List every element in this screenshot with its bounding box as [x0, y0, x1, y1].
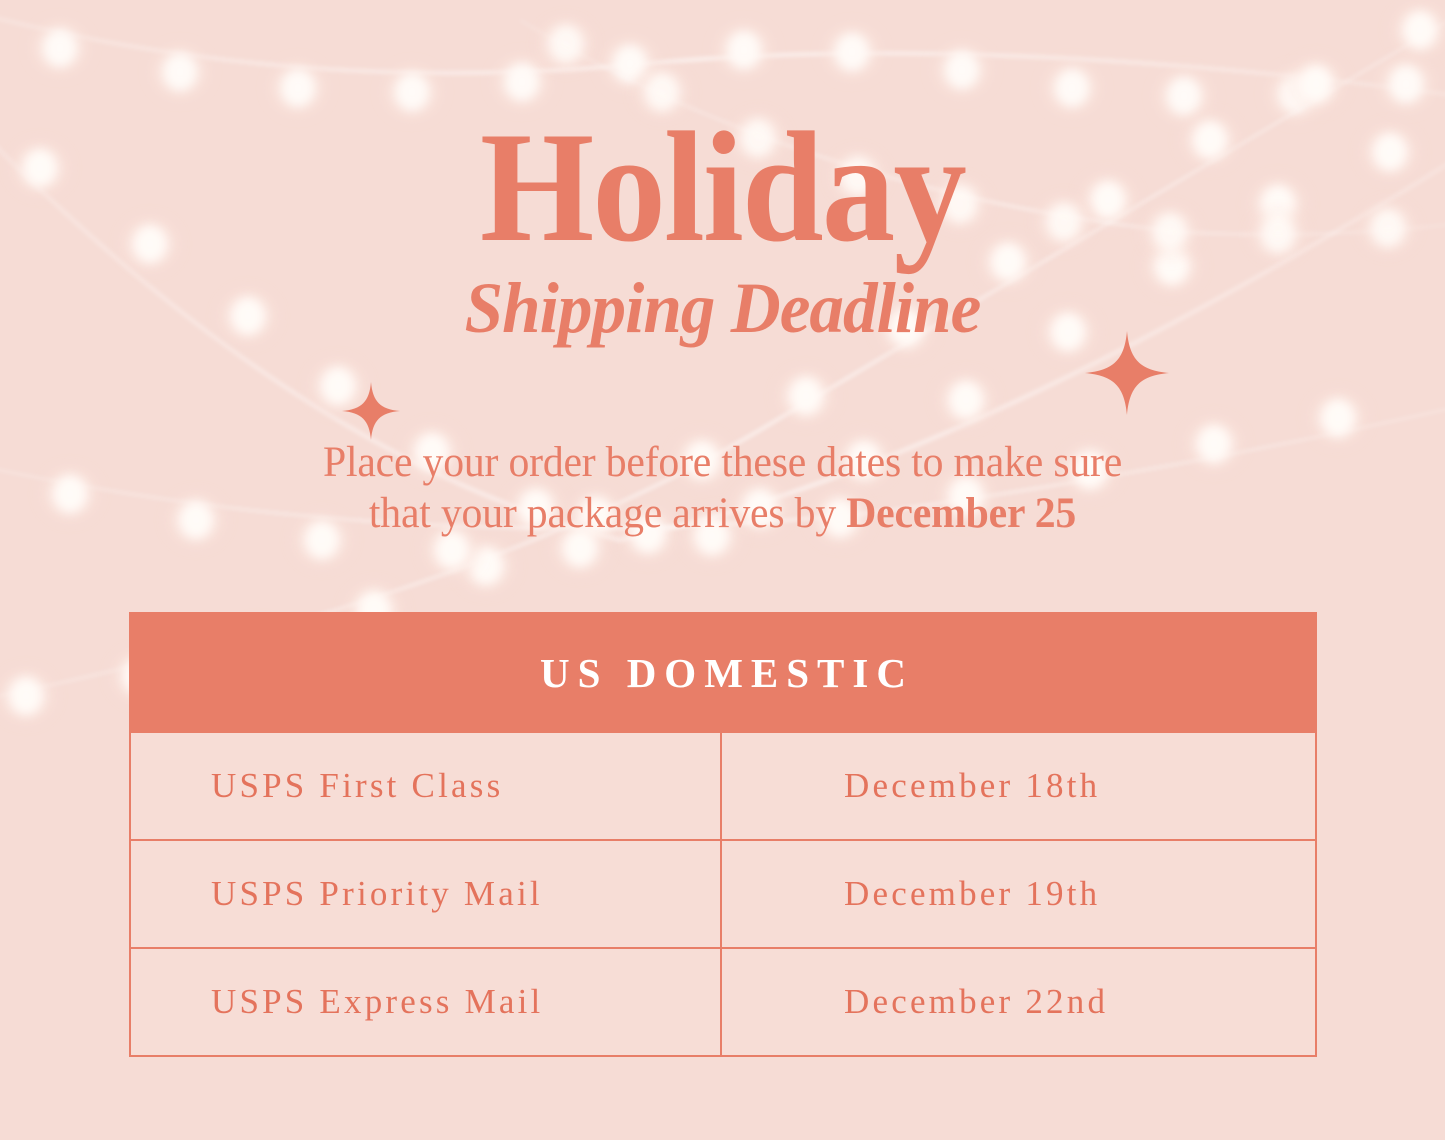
table-body: USPS First Class December 18th USPS Prio… — [129, 733, 1317, 1057]
four-point-sparkle-icon — [342, 382, 400, 440]
table-header-bar: US DOMESTIC — [129, 612, 1317, 733]
cell-service-name: USPS First Class — [131, 733, 722, 839]
table-header-label: US DOMESTIC — [532, 649, 914, 697]
cell-deadline-date: December 19th — [722, 841, 1315, 947]
intro-line-1: Place your order before these dates to m… — [22, 438, 1424, 489]
intro-deadline-date: December 25 — [846, 490, 1076, 537]
intro-line-2-prefix: that your package arrives by — [369, 490, 846, 537]
cell-deadline-date: December 18th — [722, 733, 1315, 839]
cell-deadline-date: December 22nd — [722, 949, 1315, 1055]
intro-line-2: that your package arrives by December 25 — [22, 489, 1424, 540]
table-row: USPS Priority Mail December 19th — [131, 841, 1315, 949]
shipping-deadline-table: US DOMESTIC USPS First Class December 18… — [129, 612, 1317, 1057]
cell-service-name: USPS Express Mail — [131, 949, 722, 1055]
intro-paragraph: Place your order before these dates to m… — [22, 438, 1424, 539]
table-row: USPS First Class December 18th — [131, 733, 1315, 841]
holiday-shipping-deadline-graphic: Holiday Shipping Deadline Place your ord… — [0, 0, 1445, 1140]
table-row: USPS Express Mail December 22nd — [131, 949, 1315, 1055]
page-subtitle: Shipping Deadline — [29, 272, 1416, 344]
cell-service-name: USPS Priority Mail — [131, 841, 722, 947]
page-title: Holiday — [51, 112, 1395, 264]
headline-block: Holiday Shipping Deadline — [0, 112, 1445, 344]
four-point-sparkle-icon — [1085, 331, 1169, 415]
